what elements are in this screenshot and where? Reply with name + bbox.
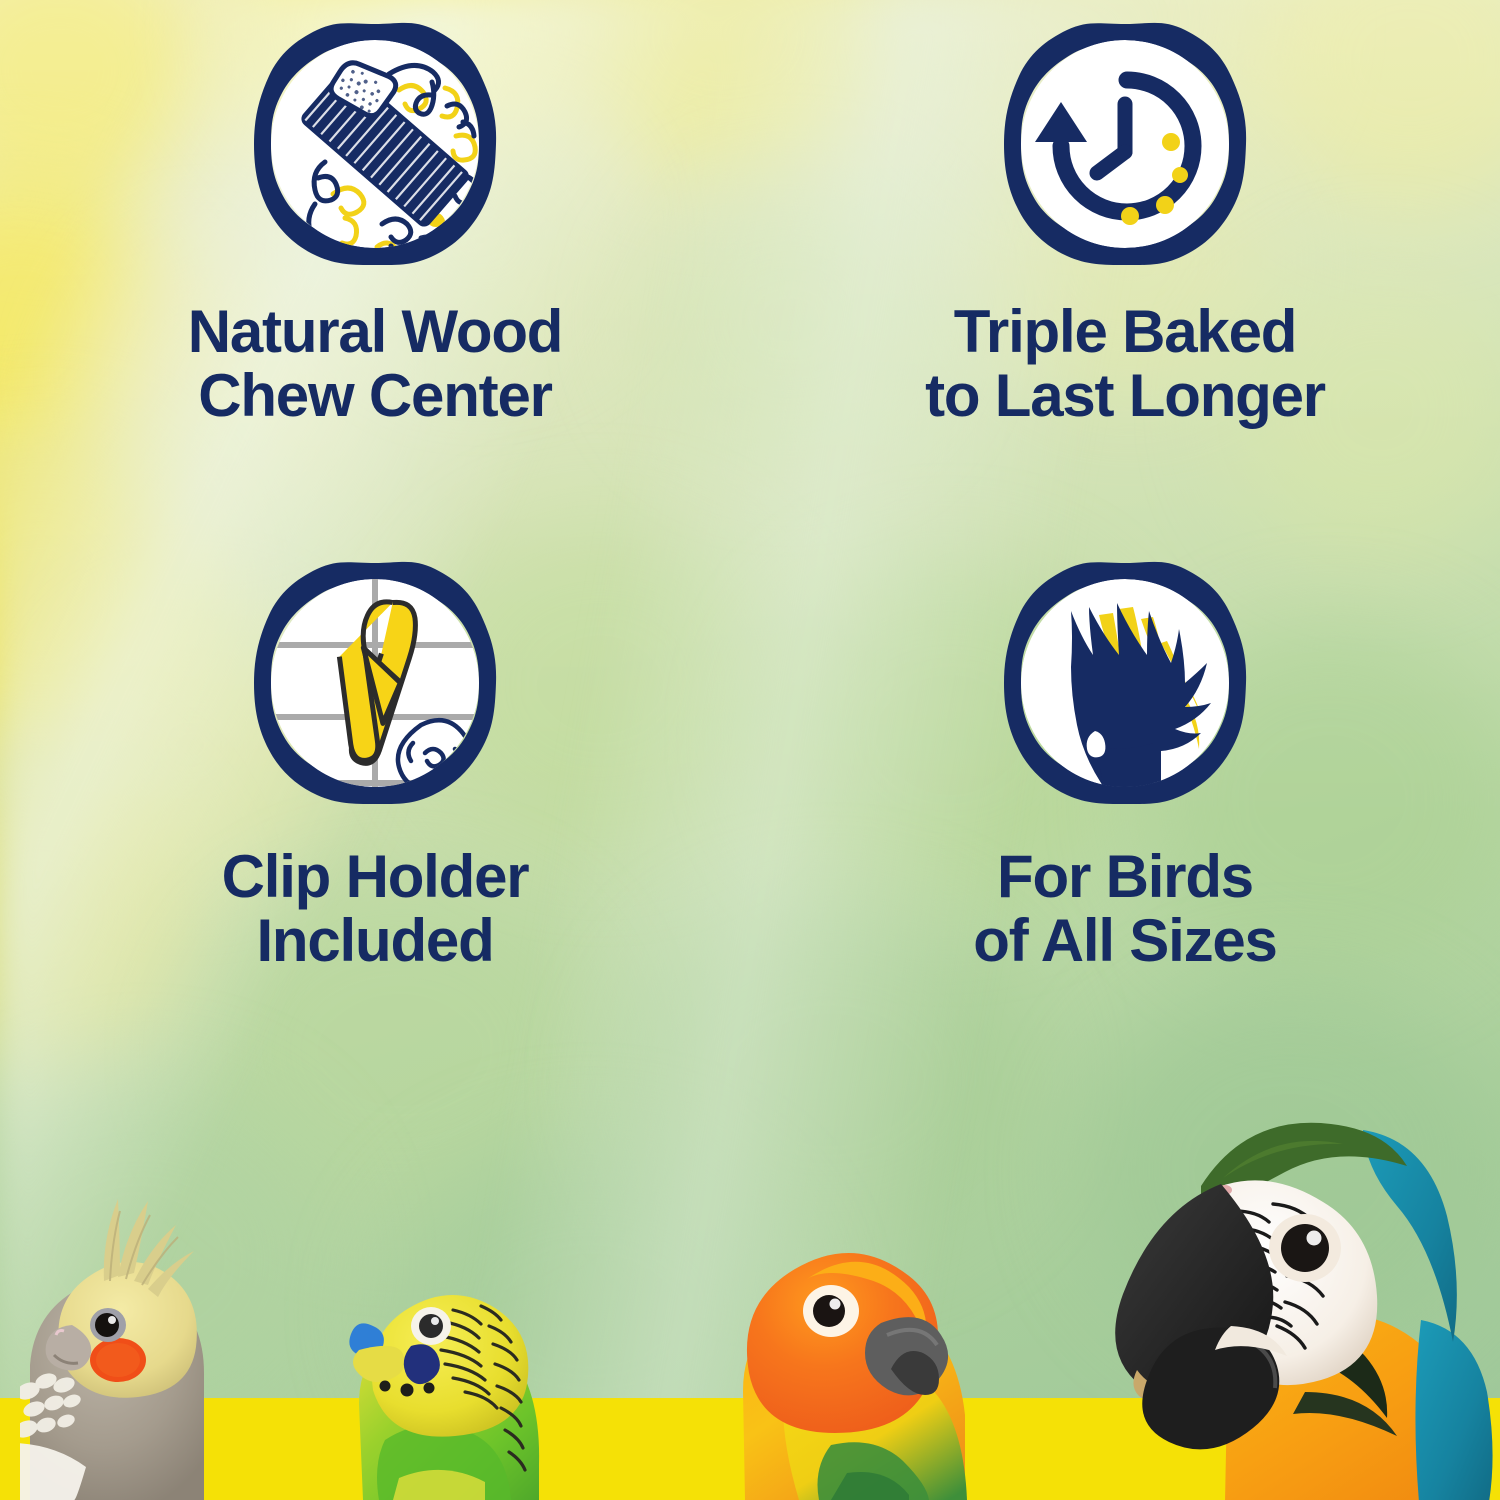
budgerigar-photo [345, 1240, 595, 1500]
feature-triple-baked-to-last-longer: Triple Baked to Last Longer [750, 0, 1500, 545]
feature-caption: Natural Wood Chew Center [188, 300, 563, 428]
product-feature-panel: Natural Wood Chew Center [0, 0, 1500, 1500]
feature-caption: Clip Holder Included [222, 845, 529, 973]
cockatiel-photo [20, 1185, 320, 1500]
clock-rotate-icon [999, 18, 1251, 270]
feature-grid: Natural Wood Chew Center [0, 0, 1500, 1090]
feature-caption: For Birds of All Sizes [973, 845, 1276, 973]
sun-conure-photo [735, 1155, 1020, 1500]
feature-natural-wood-chew-center: Natural Wood Chew Center [0, 0, 750, 545]
cage-clip-holder-icon [249, 557, 501, 809]
feature-caption: Triple Baked to Last Longer [925, 300, 1325, 428]
feature-for-birds-of-all-sizes: For Birds of All Sizes [750, 545, 1500, 1090]
wood-chew-stick-icon [249, 18, 501, 270]
feature-clip-holder-included: Clip Holder Included [0, 545, 750, 1090]
blue-and-gold-macaw-photo [1105, 1070, 1500, 1500]
cockatoo-silhouette-icon [999, 557, 1251, 809]
